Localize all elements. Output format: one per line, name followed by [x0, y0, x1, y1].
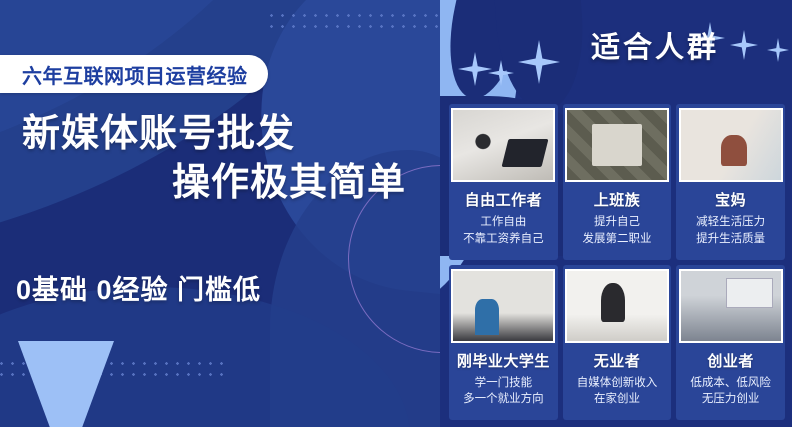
poster-root: 六年互联网项目运营经验 新媒体账号批发 操作极其简单 0基础 0经验 门槛低 适… [0, 0, 792, 427]
audience-card[interactable]: 自由工作者 工作自由 不靠工资养自己 [449, 104, 558, 260]
audience-card[interactable]: 无业者 自媒体创新收入 在家创业 [563, 265, 672, 421]
card-thumbnail [565, 108, 669, 182]
card-title: 自由工作者 [465, 189, 543, 210]
card-description: 提升自己 发展第二职业 [582, 214, 651, 247]
student-at-desk-photo [453, 271, 553, 341]
left-panel: 六年互联网项目运营经验 新媒体账号批发 操作极其简单 0基础 0经验 门槛低 [0, 0, 440, 427]
card-desc-line-2: 在家创业 [577, 391, 658, 408]
audience-card[interactable]: 上班族 提升自己 发展第二职业 [563, 104, 672, 260]
headline-line-2: 操作极其简单 [22, 159, 422, 208]
audience-card-grid: 自由工作者 工作自由 不靠工资养自己 上班族 提升自己 发展第二职业 宝妈 减轻… [449, 104, 785, 420]
card-description: 工作自由 不靠工资养自己 [463, 214, 544, 247]
card-thumbnail [565, 269, 669, 343]
sparkle-icon-6 [767, 38, 789, 62]
card-desc-line-2: 多一个就业方向 [463, 391, 544, 408]
headline: 新媒体账号批发 操作极其简单 [22, 110, 422, 207]
card-desc-line-2: 无压力创业 [690, 391, 771, 408]
card-description: 学一门技能 多一个就业方向 [463, 375, 544, 408]
card-title: 无业者 [594, 350, 641, 371]
laptop-on-bed-photo [453, 110, 553, 180]
card-desc-line-2: 发展第二职业 [582, 231, 651, 248]
card-desc-line-1: 学一门技能 [463, 375, 544, 392]
right-panel: 适合人群 自由工作者 工作自由 不靠工资养自己 上班族 提升自己 发展第二职业 [440, 0, 792, 427]
card-thumbnail [679, 108, 783, 182]
stressed-woman-laptop-photo [567, 271, 667, 341]
card-description: 低成本、低风险 无压力创业 [690, 375, 771, 408]
card-thumbnail [451, 108, 555, 182]
audience-card[interactable]: 宝妈 减轻生活压力 提升生活质量 [676, 104, 785, 260]
card-desc-line-1: 减轻生活压力 [696, 214, 765, 231]
card-desc-line-2: 提升生活质量 [696, 231, 765, 248]
card-desc-line-1: 提升自己 [582, 214, 651, 231]
experience-badge: 六年互联网项目运营经验 [0, 55, 268, 93]
card-title: 刚毕业大学生 [457, 350, 550, 371]
audience-card[interactable]: 刚毕业大学生 学一门技能 多一个就业方向 [449, 265, 558, 421]
card-title: 创业者 [707, 350, 754, 371]
card-desc-line-1: 自媒体创新收入 [577, 375, 658, 392]
experience-badge-label: 六年互联网项目运营经验 [22, 60, 248, 89]
section-title: 适合人群 [570, 24, 740, 66]
dot-grid-top [266, 10, 440, 34]
mother-with-laptop-on-bed-photo [681, 110, 781, 180]
card-description: 减轻生活压力 提升生活质量 [696, 214, 765, 247]
card-thumbnail [679, 269, 783, 343]
sub-headline: 0基础 0经验 门槛低 [16, 268, 261, 307]
card-desc-line-2: 不靠工资养自己 [463, 231, 544, 248]
card-title: 上班族 [594, 189, 641, 210]
headline-line-1: 新媒体账号批发 [22, 113, 295, 155]
card-thumbnail [451, 269, 555, 343]
card-desc-line-1: 工作自由 [463, 214, 544, 231]
card-title: 宝妈 [715, 189, 746, 210]
office-desk-topdown-photo [567, 110, 667, 180]
card-desc-line-1: 低成本、低风险 [690, 375, 771, 392]
audience-card[interactable]: 创业者 低成本、低风险 无压力创业 [676, 265, 785, 421]
classroom-seminar-photo [681, 271, 781, 341]
card-description: 自媒体创新收入 在家创业 [577, 375, 658, 408]
